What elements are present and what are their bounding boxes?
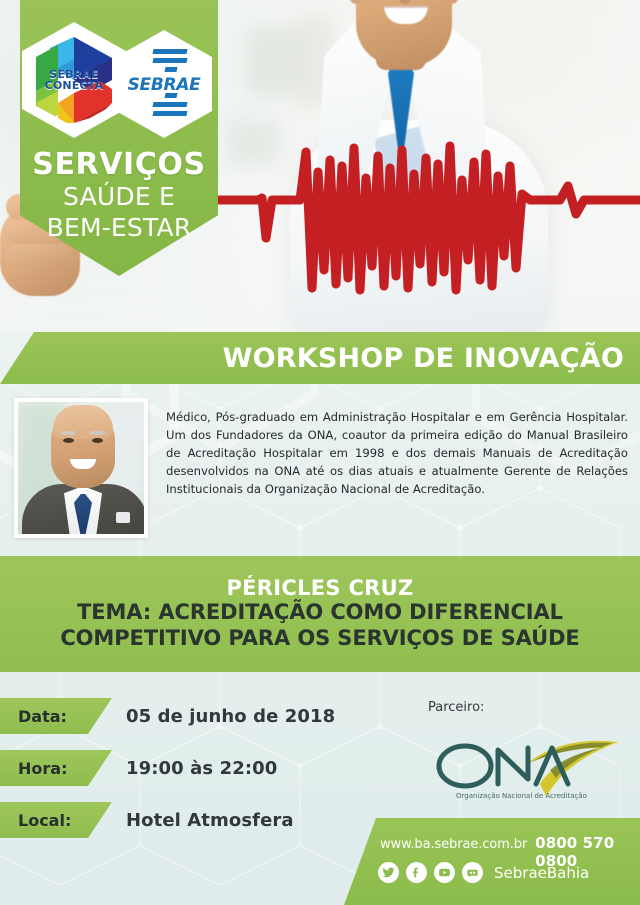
footer-social-line: SebraeBahia [378,862,628,883]
social-handle[interactable]: SebraeBahia [494,864,589,882]
flyer-poster: SEBRAE CONECTA SEBRAE SERVIÇOS SAÚDE E B… [0,0,640,905]
detail-value-data: 05 de junho de 2018 [126,706,335,727]
detail-value-hora: 19:00 às 22:00 [126,758,277,779]
detail-row-data: Data: 05 de junho de 2018 [0,696,335,736]
detail-label-hora: Hora: [0,750,112,786]
banner-line-3: BEM-ESTAR [20,215,218,242]
portrait-image [18,402,144,534]
youtube-icon[interactable] [434,862,455,883]
conecta-wordmark: SEBRAE CONECTA [45,69,104,91]
speaker-name: PÉRICLES CRUZ [226,577,413,600]
partner-section: Parceiro: Organização Nacional de Acredi… [404,700,626,812]
banner-line-1: SERVIÇOS [20,150,218,180]
ona-logo: Organização Nacional de Acreditação [432,732,626,804]
speaker-bio-text: Médico, Pós-graduado em Administração Ho… [166,408,628,498]
detail-row-hora: Hora: 19:00 às 22:00 [0,748,277,788]
logo-row: SEBRAE CONECTA SEBRAE [20,22,218,126]
twitter-icon[interactable] [378,862,399,883]
partner-label: Parceiro: [428,700,484,715]
ona-tagline: Organização Nacional de Acreditação [456,792,587,800]
theme-line-1: TEMA: ACREDITAÇÃO COMO DIFERENCIAL [77,600,563,626]
sebrae-conecta-logo: SEBRAE CONECTA [22,22,126,138]
portrait-eyebrow [61,431,76,435]
headline-band: WORKSHOP DE INOVAÇÃO [0,332,640,384]
portrait-lapel-pin [116,512,130,523]
footer: www.ba.sebrae.com.br 0800 570 0800 Sebra… [0,818,640,905]
speaker-bio-section: Médico, Pós-graduado em Administração Ho… [0,384,640,556]
facebook-icon[interactable] [406,862,427,883]
services-banner-text: SERVIÇOS SAÚDE E BEM-ESTAR [20,150,218,241]
sebrae-wordmark: SEBRAE [125,75,203,95]
portrait-eye [92,438,103,443]
sebrae-logo: SEBRAE [116,30,212,138]
flickr-icon[interactable] [462,862,483,883]
banner-line-2: SAÚDE E [20,184,218,211]
theme-band: PÉRICLES CRUZ TEMA: ACREDITAÇÃO COMO DIF… [0,556,640,672]
theme-line-2: COMPETITIVO PARA OS SERVIÇOS DE SAÚDE [60,626,579,652]
sebrae-mark: SEBRAE [125,47,203,121]
speaker-portrait [14,398,148,538]
page-title: WORKSHOP DE INOVAÇÃO [0,332,624,384]
website-url[interactable]: www.ba.sebrae.com.br [380,837,527,852]
portrait-eyebrow [90,431,105,435]
portrait-eye [63,438,74,443]
conecta-line-2: CONECTA [45,80,104,91]
detail-label-data: Data: [0,698,112,734]
